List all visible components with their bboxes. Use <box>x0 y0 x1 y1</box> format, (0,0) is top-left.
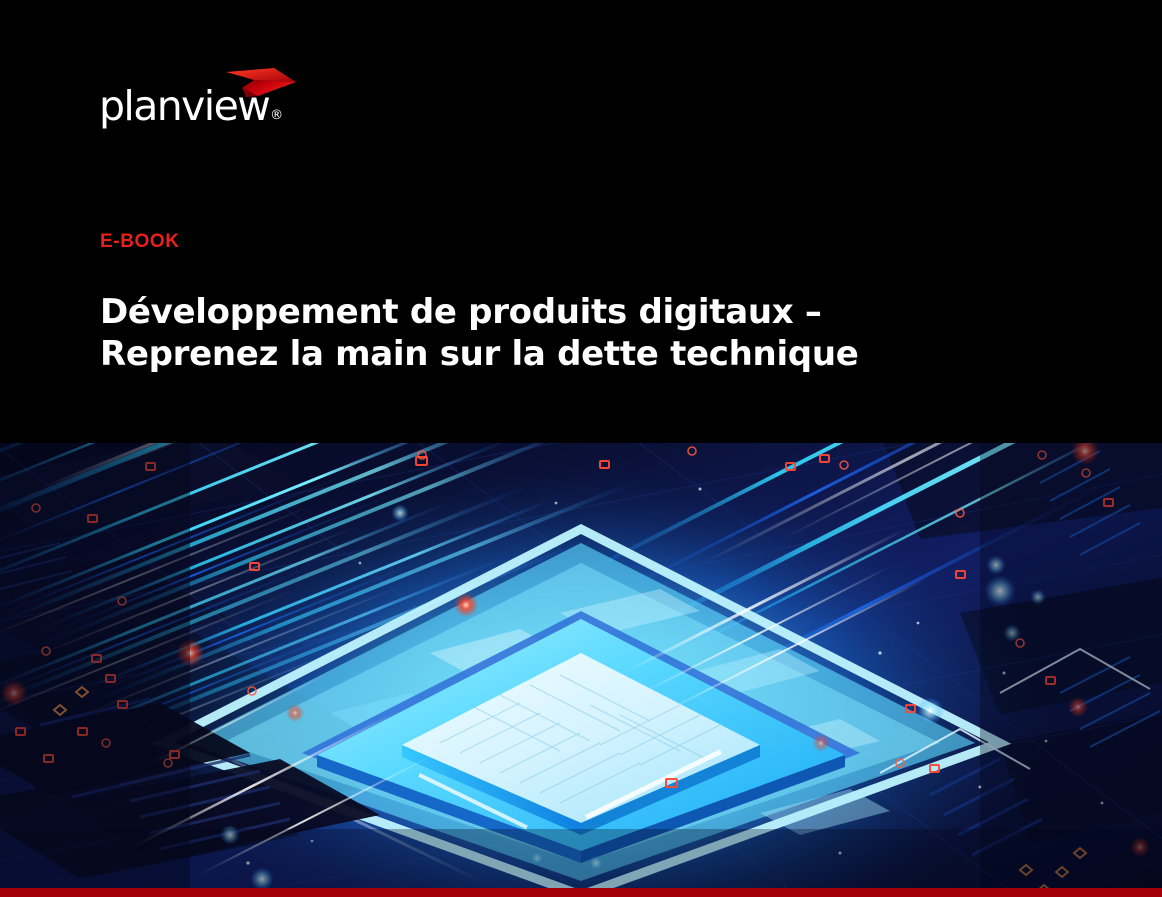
title-line-1: Développement de produits digitaux – <box>100 291 1000 333</box>
page-title: Développement de produits digitaux – Rep… <box>100 291 1000 375</box>
hero-image <box>0 443 1162 888</box>
eyebrow-label: E-BOOK <box>100 231 180 254</box>
planview-logo: planview® <box>99 66 299 132</box>
logo-wordmark-text: planview <box>99 82 269 130</box>
registered-trademark-icon: ® <box>270 108 283 123</box>
bottom-red-rule <box>0 888 1162 897</box>
ebook-cover-page: planview® E-BOOK Développement de produi… <box>0 0 1162 897</box>
header-band: planview® E-BOOK Développement de produi… <box>0 0 1162 443</box>
title-line-2: Reprenez la main sur la dette technique <box>100 333 1000 375</box>
logo-wordmark: planview® <box>99 86 282 127</box>
